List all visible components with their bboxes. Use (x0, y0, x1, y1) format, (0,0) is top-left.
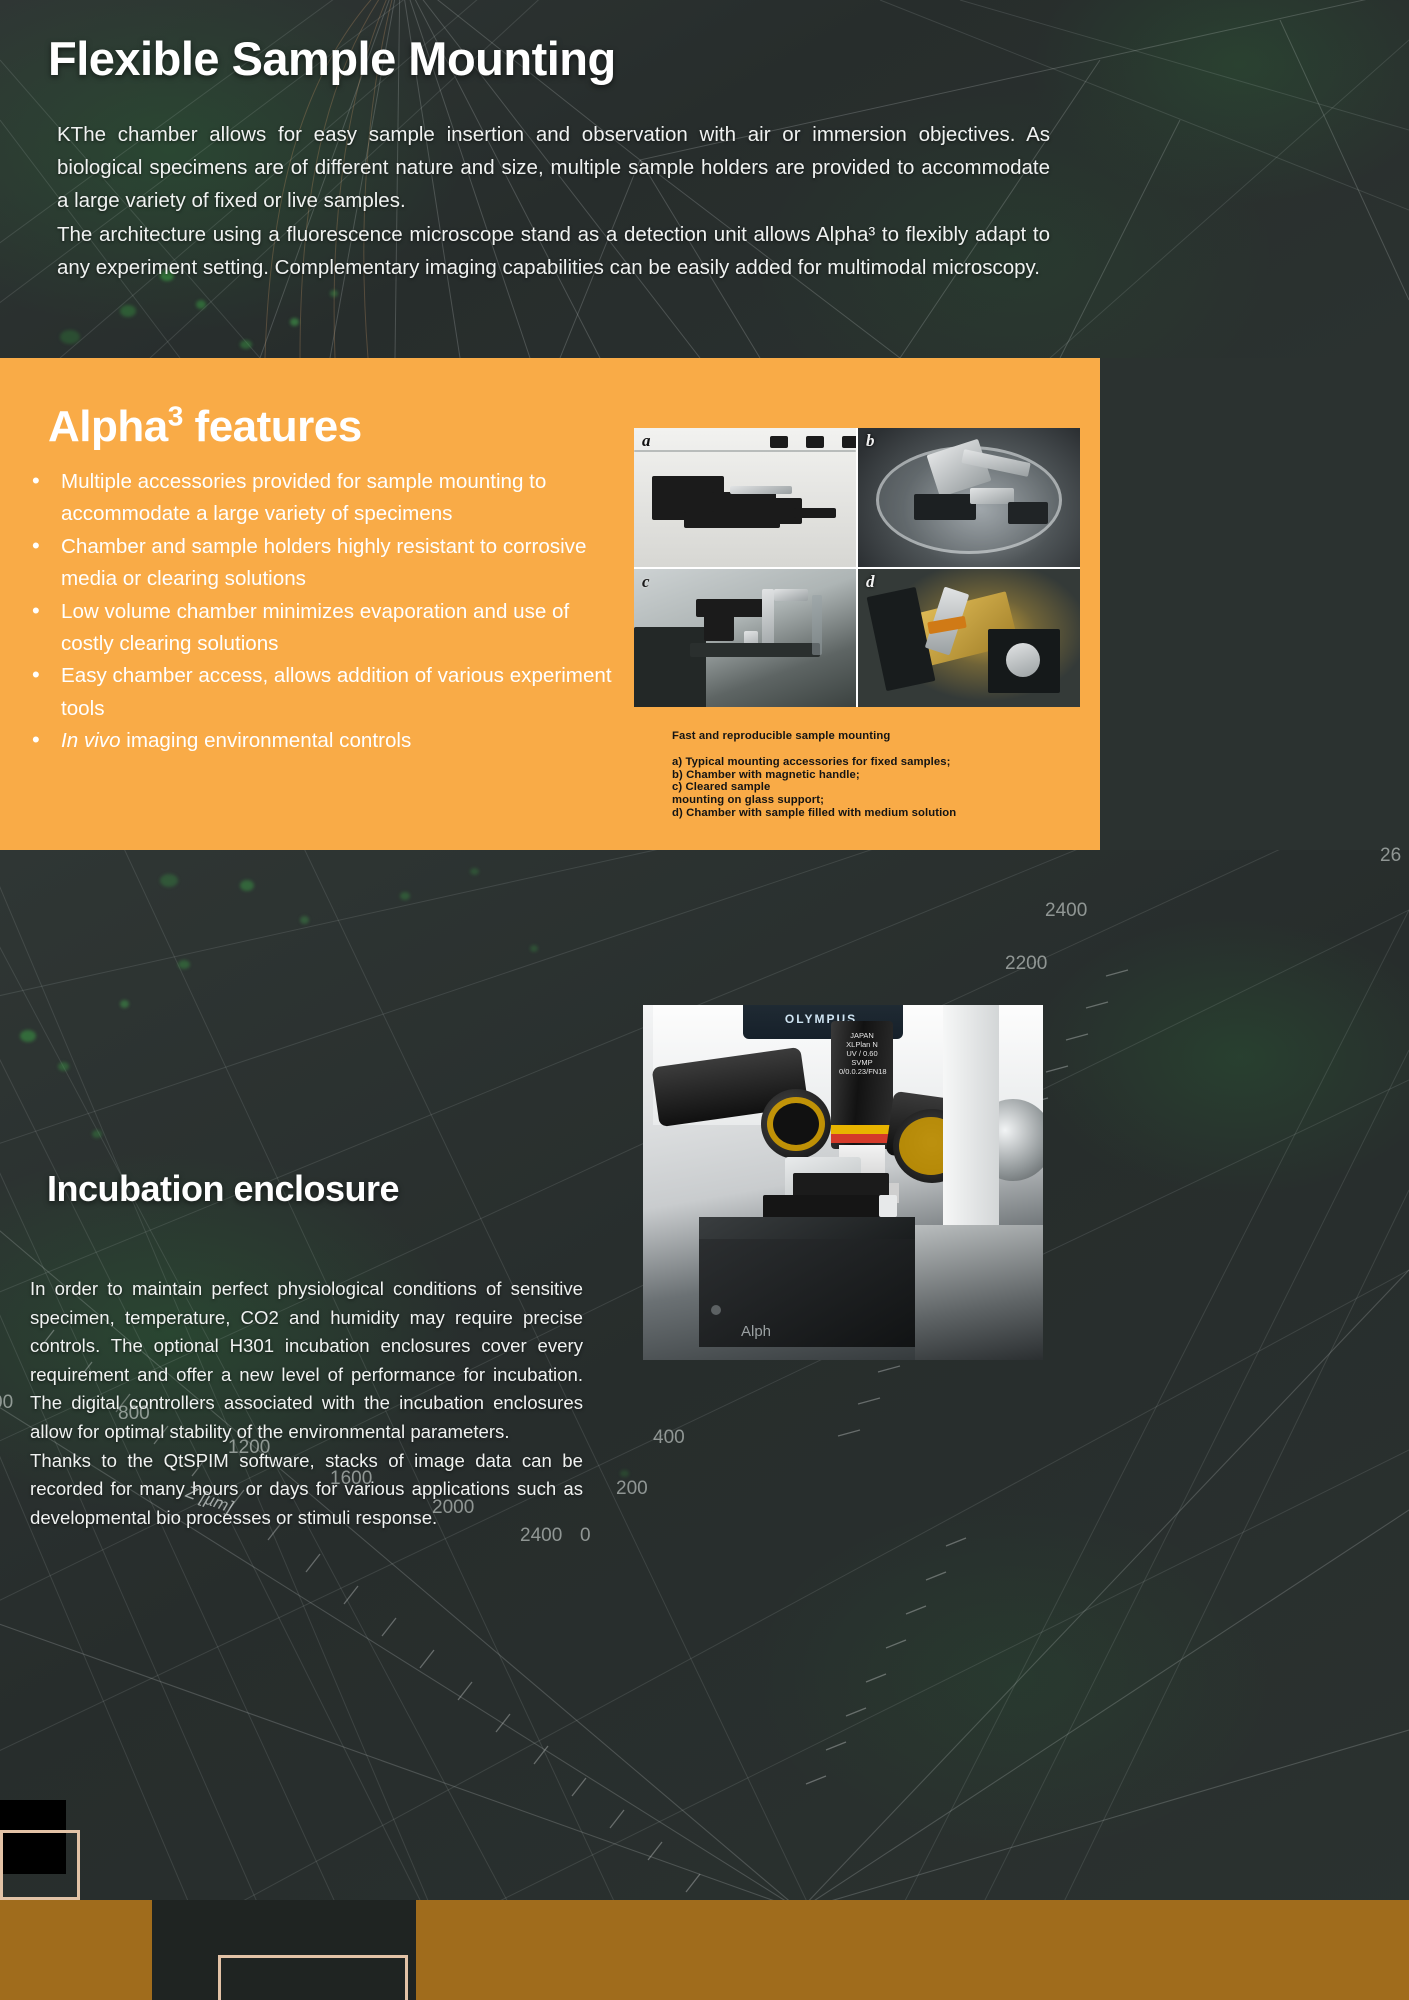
section-title-alpha-features: Alpha3 features (48, 398, 362, 456)
list-item: Easy chamber access, allows addition of … (20, 660, 620, 725)
alpha-features-panel: Alpha3 features Multiple accessories pro… (0, 358, 1100, 850)
photo-a-mounting-accessories: a (634, 428, 856, 567)
page-title-flexible-sample-mounting: Flexible Sample Mounting (48, 28, 616, 90)
list-item: Multiple accessories provided for sample… (20, 466, 620, 531)
list-item: In vivo imaging environmental controls (20, 725, 620, 757)
caption-title: Fast and reproducible sample mounting (672, 730, 1092, 743)
photo-label-c: c (642, 572, 650, 592)
sample-mounting-photo-grid: a b c (634, 428, 1080, 707)
bottom-brown-strip-right (416, 1900, 1409, 2000)
list-item: Low volume chamber minimizes evaporation… (20, 596, 620, 661)
objective-text-line: XLPlan N (839, 1040, 885, 1049)
photo-b-chamber-magnetic-handle: b (858, 428, 1080, 567)
photo-d-chamber-with-medium-solution: d (858, 569, 1080, 708)
list-item: Chamber and sample holders highly resist… (20, 531, 620, 596)
caption-line: c) Cleared sample (672, 781, 1092, 794)
paragraph-line: KThe chamber allows for easy sample inse… (57, 118, 1050, 218)
alpha-title-main: Alpha (48, 402, 168, 451)
caption-line: a) Typical mounting accessories for fixe… (672, 756, 1092, 769)
objective-text-line: UV / 0.60 SVMP (839, 1049, 885, 1067)
bottom-brown-strip-left (0, 1900, 152, 2000)
caption-lines: a) Typical mounting accessories for fixe… (672, 756, 1092, 820)
paragraph-line: In order to maintain perfect physiologic… (30, 1275, 583, 1447)
paragraph-flexible-sample-mounting: KThe chamber allows for easy sample inse… (57, 118, 1050, 284)
photo-label-d: d (866, 572, 875, 592)
paragraph-line: Thanks to the QtSPIM software, stacks of… (30, 1447, 583, 1533)
microscope-photo: OLYMPUS JAPAN XLPlan N UV / 0.60 SVMP 0/… (643, 1005, 1043, 1360)
bottom-frame-mid (218, 1955, 408, 2000)
microscope-base-label: Alph (741, 1323, 813, 1345)
caption-line: mounting on glass support; (672, 794, 1092, 807)
objective-text-line: 0/0.0.23/FN18 (839, 1067, 885, 1076)
photo-label-a: a (642, 431, 651, 451)
list-item-rest: imaging environmental controls (121, 729, 412, 752)
features-bullet-list: Multiple accessories provided for sample… (20, 466, 620, 758)
objective-text-line: JAPAN (839, 1031, 885, 1040)
poster-page: Flexible Sample Mounting KThe chamber al… (0, 0, 1409, 2000)
alpha-title-tail: features (183, 402, 362, 451)
bottom-frame-left (0, 1830, 80, 1900)
paragraph-line: The architecture using a fluorescence mi… (57, 218, 1050, 284)
photo-label-b: b (866, 431, 875, 451)
caption-line: b) Chamber with magnetic handle; (672, 769, 1092, 782)
alpha-title-superscript: 3 (168, 400, 183, 431)
photo-grid-caption: Fast and reproducible sample mounting a)… (672, 730, 1092, 820)
section-title-incubation-enclosure: Incubation enclosure (47, 1165, 399, 1213)
paragraph-incubation-enclosure: In order to maintain perfect physiologic… (30, 1275, 583, 1532)
list-item-italic: In vivo (61, 729, 121, 752)
caption-line: d) Chamber with sample filled with mediu… (672, 807, 1092, 820)
photo-c-cleared-sample-glass-support: c (634, 569, 856, 708)
